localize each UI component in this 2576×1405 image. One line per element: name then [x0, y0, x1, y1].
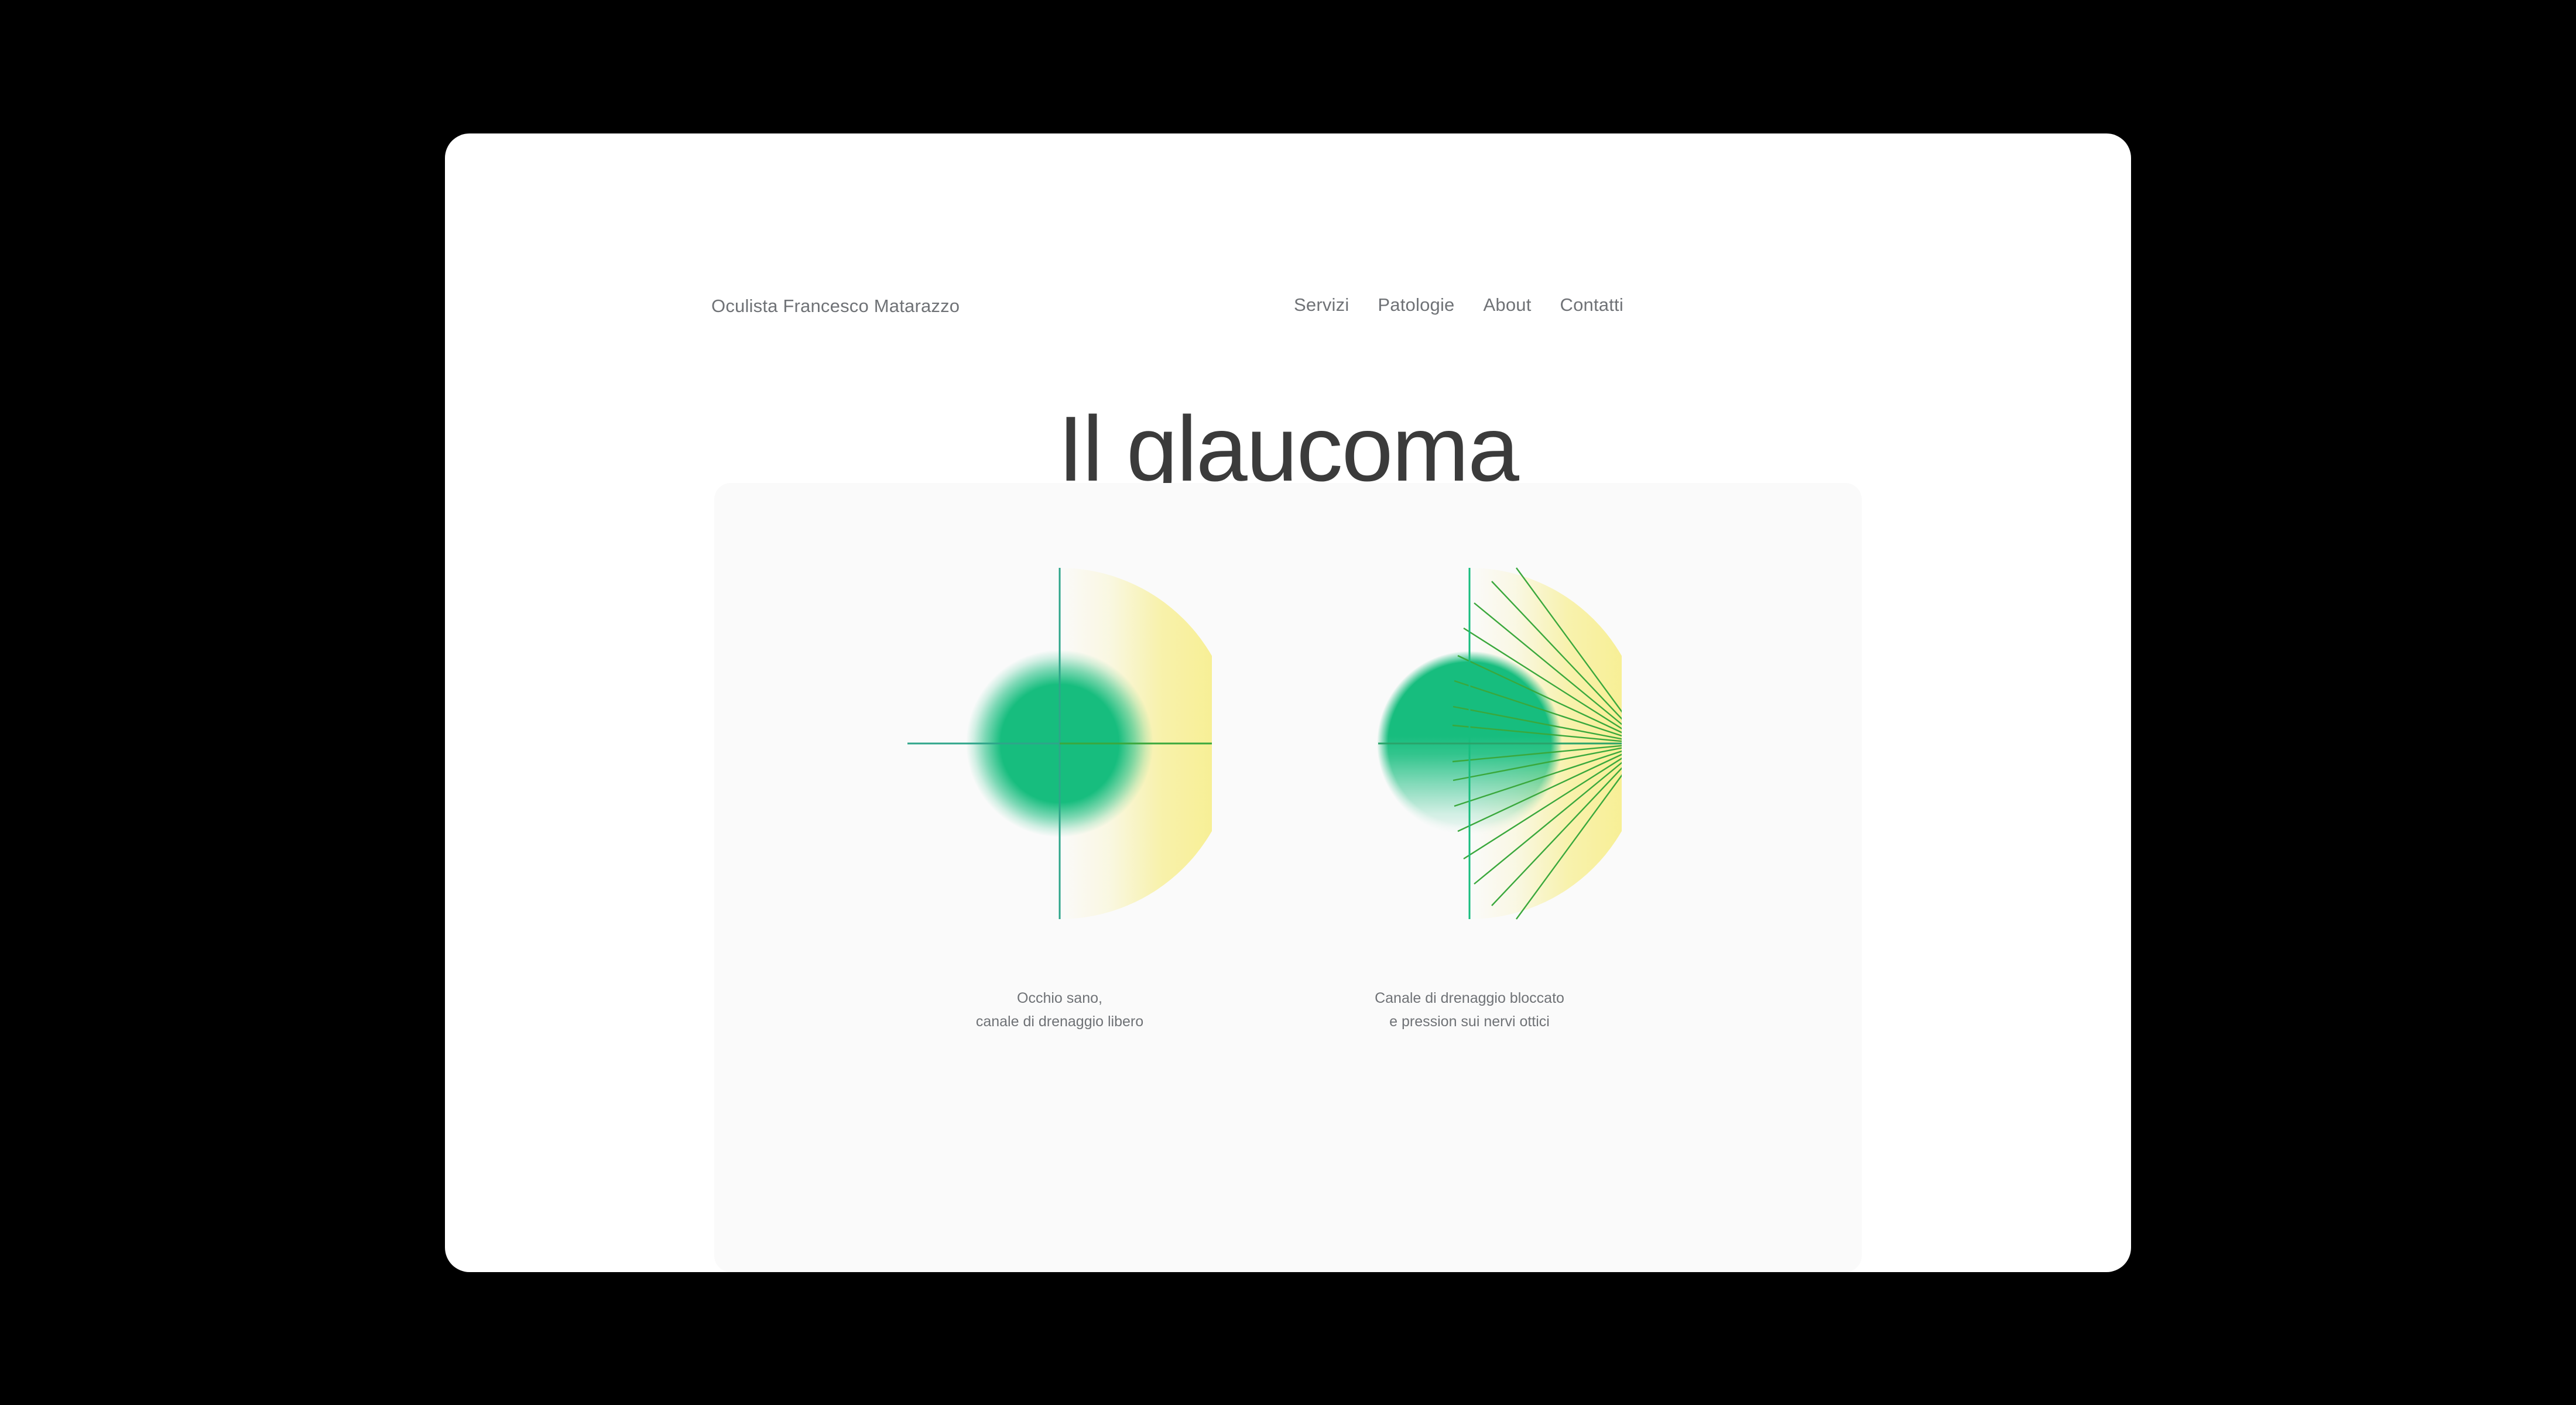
page-title: Il glaucoma [445, 403, 2131, 495]
caption-line-1: Canale di drenaggio bloccato [1259, 986, 1680, 1010]
screen: Oculista Francesco Matarazzo Servizi Pat… [0, 0, 2576, 1405]
diagram-healthy-eye: Occhio sano, canale di drenaggio libero [907, 483, 1212, 1272]
caption-line-2: e pression sui nervi ottici [1259, 1010, 1680, 1033]
nav-link-about[interactable]: About [1484, 294, 1532, 316]
healthy-eye-illustration [907, 483, 1212, 1010]
nav-link-servizi[interactable]: Servizi [1294, 294, 1349, 316]
caption-line-1: Occhio sano, [849, 986, 1270, 1010]
primary-nav: Servizi Patologie About Contatti [1294, 294, 1623, 316]
caption-line-2: canale di drenaggio libero [849, 1010, 1270, 1033]
healthy-eye-caption: Occhio sano, canale di drenaggio libero [849, 986, 1270, 1033]
nav-link-patologie[interactable]: Patologie [1378, 294, 1454, 316]
browser-page-surface: Oculista Francesco Matarazzo Servizi Pat… [445, 133, 2131, 1272]
blocked-drainage-caption: Canale di drenaggio bloccato e pression … [1259, 986, 1680, 1033]
nav-link-contatti[interactable]: Contatti [1560, 294, 1623, 316]
blocked-drainage-illustration [1317, 483, 1622, 1010]
site-header: Oculista Francesco Matarazzo Servizi Pat… [445, 133, 2131, 233]
brand-wordmark[interactable]: Oculista Francesco Matarazzo [711, 296, 960, 317]
diagram-row: Occhio sano, canale di drenaggio libero [714, 483, 1862, 1272]
illustration-card: Occhio sano, canale di drenaggio libero [714, 483, 1862, 1272]
diagram-blocked-drainage: Canale di drenaggio bloccato e pression … [1317, 483, 1622, 1272]
